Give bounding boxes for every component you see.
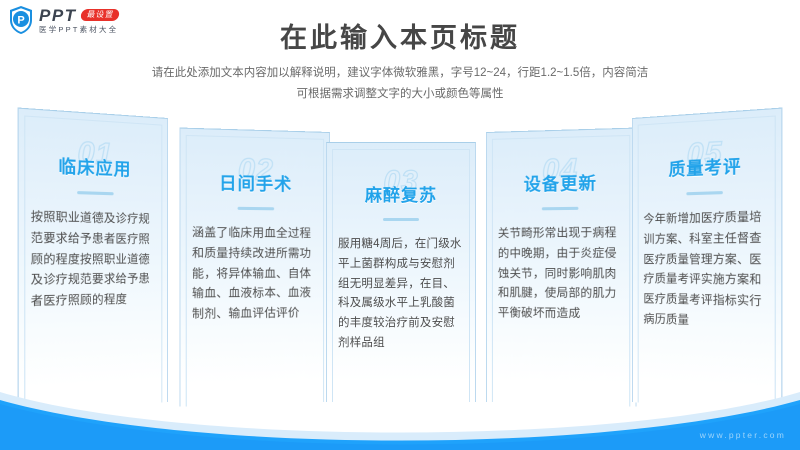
page-subtitle: 请在此处添加文本内容加以解释说明，建议字体微软雅黑，字号12~24，行距1.2~… <box>0 63 800 106</box>
card-body: 今年新增加医疗质量培训方案、科室主任督查医疗质量管理方案、医疗质量考评实施方案和… <box>643 208 769 335</box>
shield-icon: P <box>8 5 34 35</box>
card-heading: 质量考评 <box>643 150 769 182</box>
slide-root: P PPT 最设置 医学PPT素材大全 在此输入本页标题 请在此处添加文本内容加… <box>0 0 800 450</box>
logo-tagline: 医学PPT素材大全 <box>39 26 119 34</box>
logo-brand-text: PPT <box>39 7 77 24</box>
card-heading: 麻醉复苏 <box>338 181 464 206</box>
subtitle-line-1: 请在此处添加文本内容加以解释说明，建议字体微软雅黑，字号12~24，行距1.2~… <box>0 63 800 84</box>
card-divider <box>383 218 419 221</box>
card-divider <box>542 207 579 211</box>
card-heading: 临床应用 <box>31 150 157 182</box>
card-01[interactable]: 01 临床应用 按照职业道德及诊疗规范要求给予患者医疗照顾的程度按照职业道德及诊… <box>18 108 168 413</box>
card-divider <box>77 191 114 195</box>
subtitle-line-2: 可根据需求调整文字的大小或颜色等属性 <box>0 84 800 105</box>
card-body: 服用糖4周后，在门级水平上菌群构成与安慰剂组无明显差异，在目、科及属级水平上乳酸… <box>338 235 464 354</box>
card-band: 01 临床应用 按照职业道德及诊疗规范要求给予患者医疗照顾的程度按照职业道德及诊… <box>0 112 800 402</box>
site-watermark: www.ppter.com <box>700 430 786 440</box>
card-03[interactable]: 03 麻醉复苏 服用糖4周后，在门级水平上菌群构成与安慰剂组无明显差异，在目、科… <box>326 142 476 402</box>
card-body: 按照职业道德及诊疗规范要求给予患者医疗照顾的程度按照职业道德及诊疗规范要求给予患… <box>31 208 157 314</box>
card-04[interactable]: 04 设备更新 关节畸形常出现于病程的中晚期，由于炎症侵蚀关节，同时影响肌肉和肌… <box>486 128 637 407</box>
card-body: 涵盖了临床用血全过程和质量持续改进所需功能，将异体输血、自体输血、血液标本、血液… <box>192 224 318 326</box>
card-body: 关节畸形常出现于病程的中晚期，由于炎症侵蚀关节，同时影响肌肉和肌腱，使局部的肌力… <box>498 224 624 326</box>
bottom-wave-decoration <box>0 370 800 450</box>
brand-logo: P PPT 最设置 医学PPT素材大全 <box>8 5 119 35</box>
card-02[interactable]: 02 日间手术 涵盖了临床用血全过程和质量持续改进所需功能，将异体输血、自体输血… <box>179 128 330 407</box>
card-heading: 日间手术 <box>192 168 318 196</box>
card-divider <box>238 207 275 211</box>
page-title: 在此输入本页标题 <box>0 16 800 55</box>
logo-badge: 最设置 <box>80 9 120 21</box>
shield-letter: P <box>17 15 24 27</box>
card-heading: 设备更新 <box>498 168 624 196</box>
card-divider <box>686 191 723 195</box>
card-05[interactable]: 05 质量考评 今年新增加医疗质量培训方案、科室主任督查医疗质量管理方案、医疗质… <box>632 108 782 413</box>
